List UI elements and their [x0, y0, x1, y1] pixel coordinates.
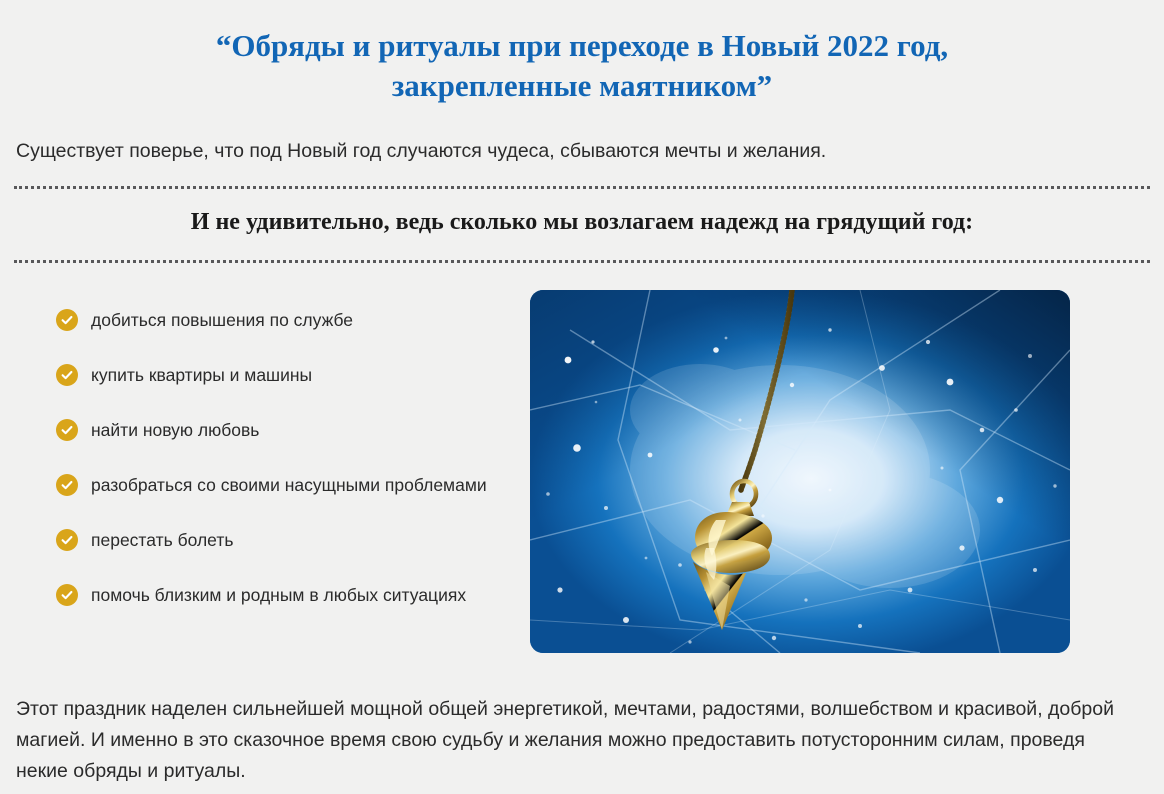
check-circle-icon [56, 529, 78, 551]
intro-paragraph: Существует поверье, что под Новый год сл… [0, 107, 1164, 165]
pendulum-photo [530, 290, 1070, 653]
dotted-divider-bottom [14, 260, 1150, 263]
list-item: купить квартиры и машины [56, 348, 566, 403]
list-item: разобраться со своими насущными проблема… [56, 458, 566, 513]
section-subtitle: И не удивительно, ведь сколько мы возлаг… [0, 189, 1164, 237]
list-item-label: купить квартиры и машины [91, 364, 312, 387]
article-page: “Обряды и ритуалы при переходе в Новый 2… [0, 0, 1164, 794]
wishes-checklist: добиться повышения по службе купить квар… [56, 293, 566, 623]
list-item-label: разобраться со своими насущными проблема… [91, 474, 487, 497]
closing-paragraph: Этот праздник наделен сильнейшей мощной … [0, 668, 1164, 788]
list-item: добиться повышения по службе [56, 293, 566, 348]
page-title: “Обряды и ритуалы при переходе в Новый 2… [0, 0, 1164, 107]
list-item-label: помочь близким и родным в любых ситуация… [91, 584, 466, 607]
list-item-label: добиться повышения по службе [91, 309, 353, 332]
content-row: добиться повышения по службе купить квар… [0, 293, 1164, 668]
list-item: найти новую любовь [56, 403, 566, 458]
list-item: помочь близким и родным в любых ситуация… [56, 568, 566, 623]
list-item-label: найти новую любовь [91, 419, 259, 442]
list-item-label: перестать болеть [91, 529, 233, 552]
check-circle-icon [56, 419, 78, 441]
check-circle-icon [56, 309, 78, 331]
check-circle-icon [56, 364, 78, 386]
page-title-line-2: закрепленные маятником” [140, 66, 1024, 106]
check-circle-icon [56, 474, 78, 496]
page-title-line-1: “Обряды и ритуалы при переходе в Новый 2… [140, 26, 1024, 66]
list-item: перестать болеть [56, 513, 566, 568]
check-circle-icon [56, 584, 78, 606]
